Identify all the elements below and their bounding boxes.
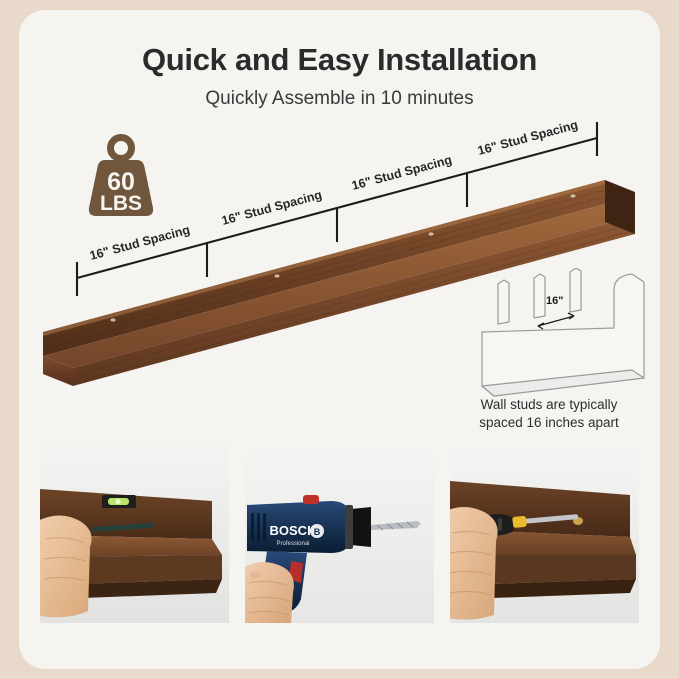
drill-brand-label: BOSCH bbox=[270, 523, 317, 538]
screwdriver-icon bbox=[450, 443, 639, 623]
page-subtitle: Quickly Assemble in 10 minutes bbox=[19, 88, 660, 110]
infographic-root: Quick and Easy Installation Quickly Asse… bbox=[0, 0, 679, 679]
step-level-shelf-photo bbox=[40, 443, 229, 623]
stud-caption-line-1: Wall studs are typically bbox=[481, 397, 618, 412]
hand-with-level-icon bbox=[40, 443, 229, 623]
wall-stud-framing-diagram-icon: 16" bbox=[464, 268, 654, 398]
stud-spacing-label-4: 16" Stud Spacing bbox=[476, 118, 579, 158]
bubble-level-icon bbox=[102, 495, 136, 508]
power-drill-icon: BOSCH Professional B bbox=[245, 443, 434, 623]
stud-diagram-caption: Wall studs are typically spaced 16 inche… bbox=[449, 396, 649, 432]
step-fasten-screw-photo bbox=[450, 443, 639, 623]
infographic-card: Quick and Easy Installation Quickly Asse… bbox=[19, 10, 660, 669]
svg-text:B: B bbox=[314, 527, 321, 537]
step-drill-wall-photo: BOSCH Professional B bbox=[245, 443, 434, 623]
stud-caption-line-2: spaced 16 inches apart bbox=[479, 415, 619, 430]
stud-dimension-label: 16" bbox=[546, 295, 563, 307]
page-title: Quick and Easy Installation bbox=[19, 42, 660, 78]
wall-stud-diagram: 16" bbox=[464, 268, 654, 398]
drill-brand-sub-label: Professional bbox=[276, 541, 309, 547]
installation-step-photos: BOSCH Professional B bbox=[40, 443, 640, 623]
